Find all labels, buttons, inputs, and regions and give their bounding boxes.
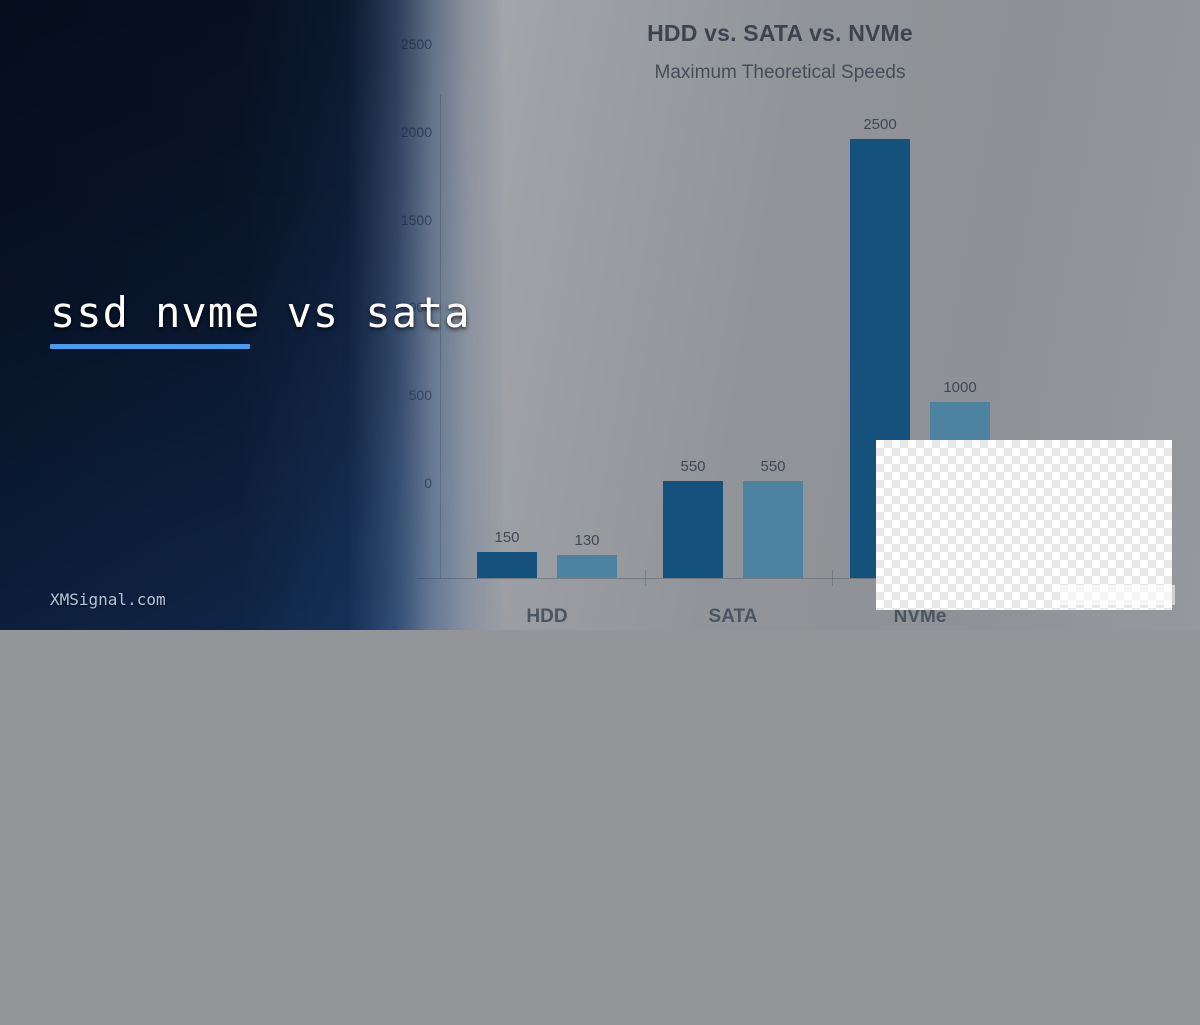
overlay-title-underline: [50, 344, 250, 349]
overlay-title: ssd nvme vs sata: [50, 288, 471, 337]
logo-frame-shadow: [1060, 585, 1175, 605]
site-watermark: XMSignal.com: [50, 590, 166, 609]
